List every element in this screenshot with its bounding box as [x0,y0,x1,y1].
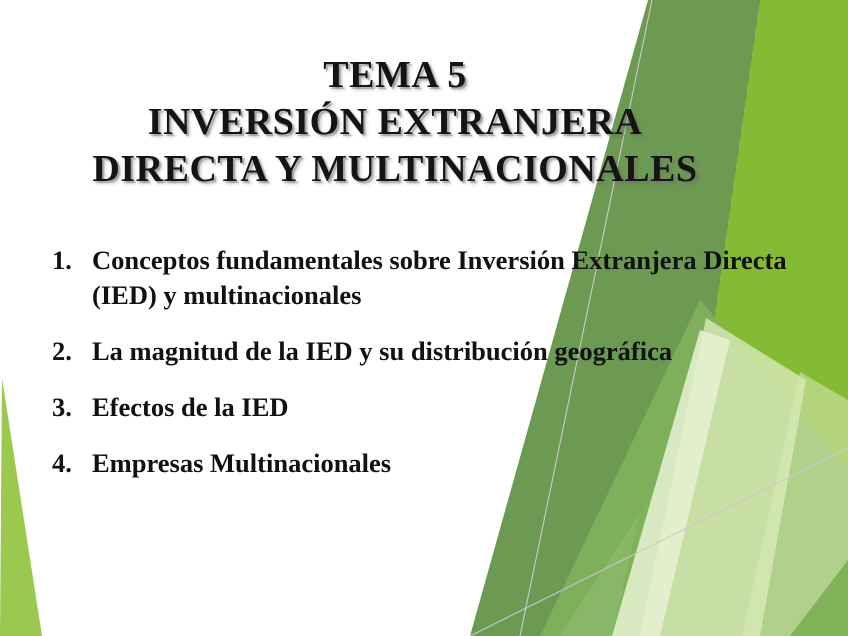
presentation-slide: TEMA 5 INVERSIÓN EXTRANJERA DIRECTA Y MU… [0,0,848,636]
decoration-shape-bottom-left-triangle [0,378,42,636]
slide-title: TEMA 5 INVERSIÓN EXTRANJERA DIRECTA Y MU… [0,52,790,193]
outline-item-2-number: 2. [52,334,72,369]
outline-item-2: 2. La magnitud de la IED y su distribuci… [52,334,812,369]
title-line-1: TEMA 5 [0,52,790,99]
outline-item-4-number: 4. [52,446,72,481]
title-line-2: INVERSIÓN EXTRANJERA [0,99,790,146]
outline-item-3: 3. Efectos de la IED [52,390,812,425]
outline-item-3-text: Efectos de la IED [92,390,812,425]
outline-item-1: 1. Conceptos fundamentales sobre Inversi… [52,243,812,313]
outline-item-4: 4. Empresas Multinacionales [52,446,812,481]
title-line-3: DIRECTA Y MULTINACIONALES [0,146,790,193]
outline-item-2-text: La magnitud de la IED y su distribución … [92,334,792,369]
outline-item-1-number: 1. [52,243,72,278]
outline-item-3-number: 3. [52,390,72,425]
outline-item-1-text: Conceptos fundamentales sobre Inversión … [92,243,792,313]
outline-item-4-text: Empresas Multinacionales [92,446,812,481]
slide-outline-list: 1. Conceptos fundamentales sobre Inversi… [52,243,812,502]
